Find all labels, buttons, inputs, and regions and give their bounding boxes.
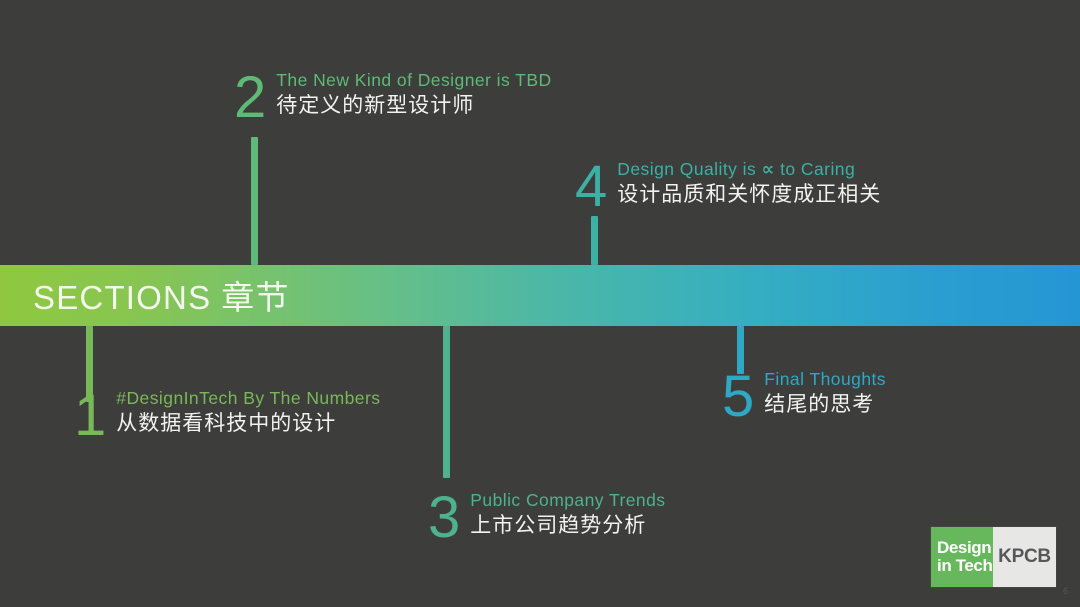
section-item-4[interactable]: 4 Design Quality is ∝ to Caring 设计品质和关怀度… [575,158,881,210]
sections-banner: SECTIONS章节 [0,265,1080,326]
banner-title-en: SECTIONS [33,279,211,316]
section-item-5[interactable]: 5 Final Thoughts 结尾的思考 [722,369,886,420]
section-title-en-1: #DesignInTech By The Numbers [116,388,380,410]
banner-title-cn: 章节 [221,279,289,316]
section-title-cn-1: 从数据看科技中的设计 [116,410,380,438]
section-title-en-4: Design Quality is ∝ to Caring [617,158,881,181]
section-text-3: Public Company Trends 上市公司趋势分析 [470,490,665,541]
proportional-to-symbol: ∝ [762,159,775,179]
brand-logo: Design in Tech KPCB [931,527,1056,587]
section-title-en-4-after: to Caring [780,159,855,179]
section-title-cn-5: 结尾的思考 [764,391,886,419]
section-title-en-4-before: Design Quality is [617,159,756,179]
connector-stem-3 [443,326,450,478]
section-text-2: The New Kind of Designer is TBD 待定义的新型设计… [276,70,551,121]
section-title-cn-3: 上市公司趋势分析 [470,512,665,540]
logo-line-1: Design [937,539,993,557]
page-number: 6 [1063,586,1068,596]
section-title-cn-2: 待定义的新型设计师 [276,92,551,120]
section-number-4: 4 [575,164,606,209]
section-number-5: 5 [722,374,753,419]
section-item-3[interactable]: 3 Public Company Trends 上市公司趋势分析 [428,490,666,541]
section-text-5: Final Thoughts 结尾的思考 [764,369,886,420]
connector-stem-4 [591,216,598,265]
section-title-en-2: The New Kind of Designer is TBD [276,70,551,92]
kpcb-logo: KPCB [993,527,1056,587]
design-in-tech-logo: Design in Tech [931,527,993,587]
section-item-1[interactable]: 1 #DesignInTech By The Numbers 从数据看科技中的设… [74,388,380,439]
section-item-2[interactable]: 2 The New Kind of Designer is TBD 待定义的新型… [234,70,552,121]
section-number-1: 1 [74,393,105,438]
section-number-2: 2 [234,75,265,120]
connector-stem-2 [251,137,258,265]
banner-title: SECTIONS章节 [33,271,290,319]
slide-canvas: SECTIONS章节 2 The New Kind of Designer is… [0,0,1080,607]
section-title-cn-4: 设计品质和关怀度成正相关 [617,181,881,209]
section-title-en-5: Final Thoughts [764,369,886,391]
section-number-3: 3 [428,495,459,540]
section-text-1: #DesignInTech By The Numbers 从数据看科技中的设计 [116,388,380,439]
section-text-4: Design Quality is ∝ to Caring 设计品质和关怀度成正… [617,158,881,210]
section-title-en-3: Public Company Trends [470,490,665,512]
logo-line-2: in Tech [937,557,993,575]
